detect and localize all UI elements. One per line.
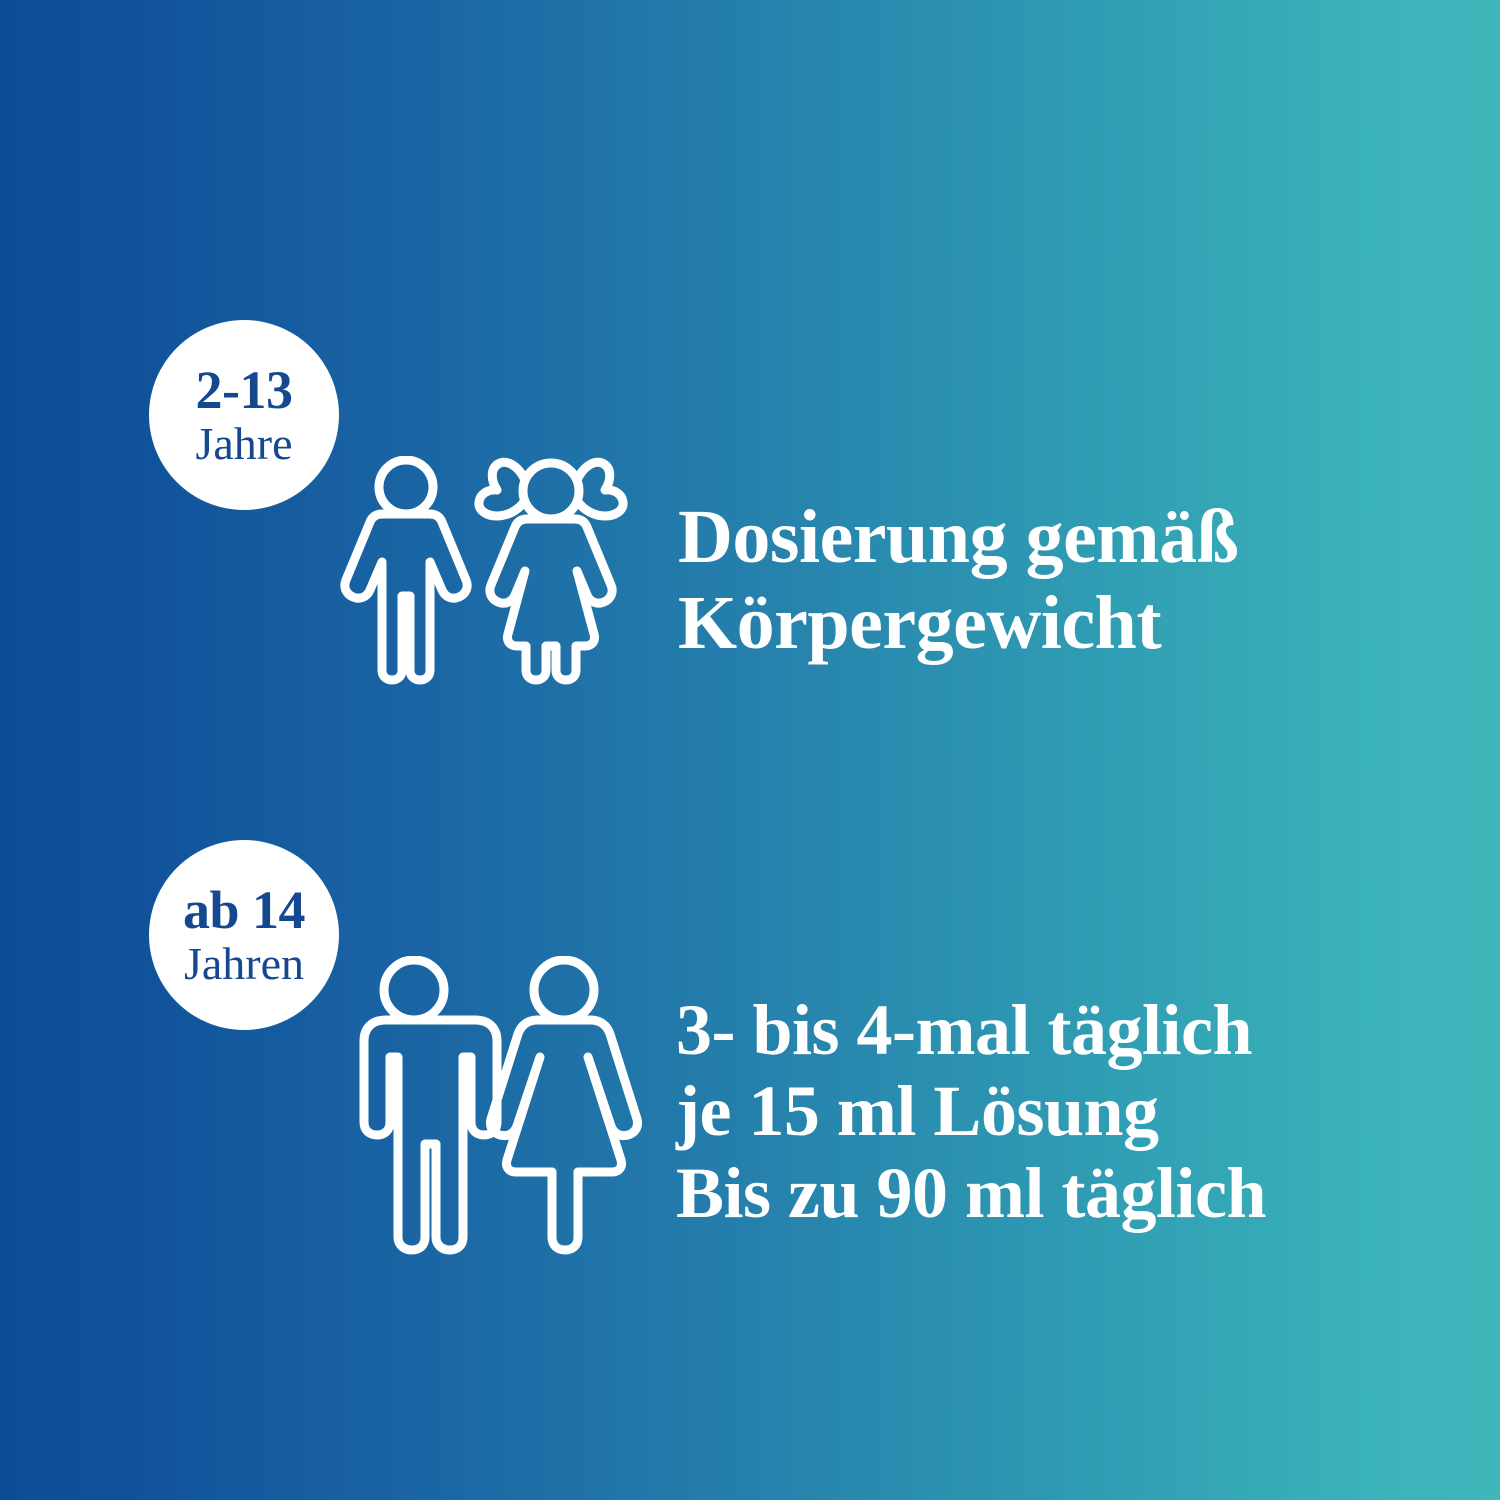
dosage-text-line: 3- bis 4-mal täglich [676,990,1416,1071]
dosage-text-adults: 3- bis 4-mal täglich je 15 ml Lösung Bis… [676,990,1416,1234]
dosage-section-adults: ab 14 Jahren 3- bis 4-mal täglic [0,820,1500,1300]
dosage-text-line: Bis zu 90 ml täglich [676,1153,1416,1234]
woman-pictogram-icon [490,960,637,1250]
girl-pictogram-icon [479,462,623,680]
age-badge-adults: ab 14 Jahren [149,840,339,1030]
dosage-text-line: Körpergewicht [678,581,1378,667]
age-badge-children: 2-13 Jahre [149,320,339,510]
adults-pictogram-group [348,956,648,1256]
age-badge-unit: Jahren [184,941,304,987]
boy-pictogram-icon [345,460,467,680]
dosage-infographic: 2-13 Jahre [0,0,1500,1500]
dosage-text-line: Dosierung gemäß [678,495,1378,581]
dosage-text-children: Dosierung gemäß Körpergewicht [678,495,1378,667]
adults-pictograms-svg [348,956,648,1256]
age-badge-unit: Jahre [195,421,292,467]
age-badge-range: ab 14 [183,883,305,937]
man-pictogram-icon [364,960,497,1250]
age-badge-range: 2-13 [196,363,293,417]
dosage-section-children: 2-13 Jahre [0,300,1500,720]
dosage-text-line: je 15 ml Lösung [676,1071,1416,1152]
children-pictograms-svg [336,456,636,686]
children-pictogram-group [336,456,636,686]
